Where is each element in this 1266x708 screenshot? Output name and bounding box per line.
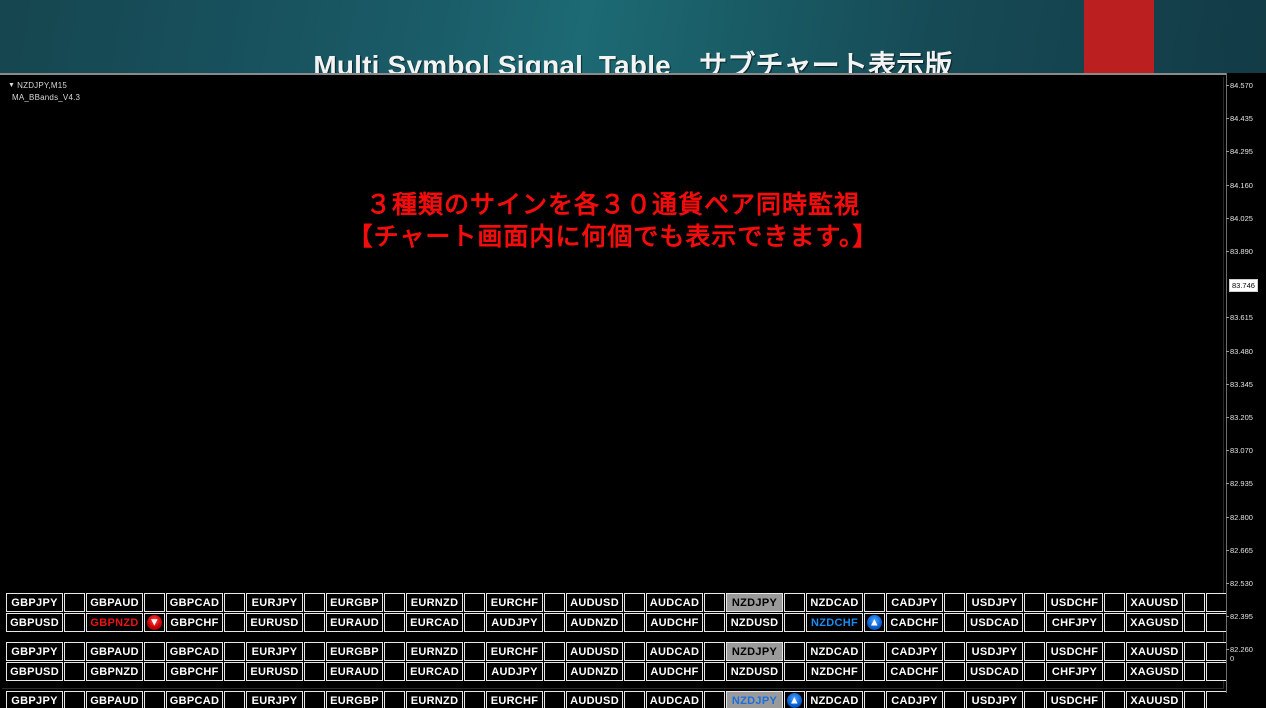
signal-table-1: GBPJPYGBPAUDGBPCADEURJPYEURGBPEURNZDEURC…	[6, 593, 1228, 633]
signal-cell-empty	[944, 662, 965, 681]
price-tick-label: 82.935	[1230, 479, 1253, 488]
signal-table-3: GBPJPYGBPAUDGBPCADEURJPYEURGBPEURNZDEURC…	[6, 691, 1228, 708]
symbol-cell-audnzd[interactable]: AUDNZD	[566, 613, 623, 632]
symbol-cell-cadjpy[interactable]: CADJPY	[886, 593, 943, 612]
symbol-cell-usdjpy[interactable]: USDJPY	[966, 691, 1023, 708]
signal-cell-empty	[864, 642, 885, 661]
symbol-cell-gbpusd[interactable]: GBPUSD	[6, 613, 63, 632]
symbol-cell-gbpcad[interactable]: GBPCAD	[166, 642, 223, 661]
signal-cell-empty	[464, 593, 485, 612]
signal-cell-empty	[784, 613, 805, 632]
signal-cell-empty	[384, 662, 405, 681]
symbol-cell-euraud[interactable]: EURAUD	[326, 613, 383, 632]
signal-cell-empty	[144, 662, 165, 681]
signal-cell-empty	[624, 662, 645, 681]
symbol-cell-nzdcad[interactable]: NZDCAD	[806, 691, 863, 708]
symbol-cell-audjpy[interactable]: AUDJPY	[486, 613, 543, 632]
signal-cell-empty	[224, 613, 245, 632]
signal-cell-empty	[1206, 642, 1227, 661]
signal-cell-empty	[1024, 642, 1045, 661]
symbol-cell-nzdcad[interactable]: NZDCAD	[806, 642, 863, 661]
symbol-cell-nzdchf[interactable]: NZDCHF	[806, 662, 863, 681]
price-tick-label: 83.480	[1230, 347, 1253, 356]
symbol-cell-eurusd[interactable]: EURUSD	[246, 662, 303, 681]
symbol-cell-eurnzd[interactable]: EURNZD	[406, 642, 463, 661]
signal-cell-empty	[1184, 642, 1205, 661]
symbol-cell-nzdjpy[interactable]: NZDJPY	[726, 593, 783, 612]
signal-cell-empty	[224, 642, 245, 661]
arrow-up-circle-icon: ▲	[867, 615, 882, 630]
price-tick-label: 83.070	[1230, 446, 1253, 455]
symbol-cell-gbpaud[interactable]: GBPAUD	[86, 642, 143, 661]
current-price-label: 83.746	[1229, 279, 1258, 292]
signal-cell-empty	[624, 691, 645, 708]
signal-cell-empty	[1024, 691, 1045, 708]
symbol-cell-gbpnzd[interactable]: GBPNZD	[86, 613, 143, 632]
symbol-cell-nzdchf[interactable]: NZDCHF	[806, 613, 863, 632]
collapse-triangle-icon[interactable]: ▼	[8, 82, 15, 89]
symbol-cell-eurnzd[interactable]: EURNZD	[406, 691, 463, 708]
signal-cell-empty	[464, 642, 485, 661]
arrow-down-circle-icon: ▼	[147, 615, 162, 630]
symbol-cell-cadchf[interactable]: CADCHF	[886, 613, 943, 632]
symbol-cell-xauusd[interactable]: XAUUSD	[1126, 642, 1183, 661]
symbol-cell-gbpnzd[interactable]: GBPNZD	[86, 662, 143, 681]
signal-cell-empty	[464, 662, 485, 681]
signal-cell-empty	[384, 613, 405, 632]
symbol-cell-audcad[interactable]: AUDCAD	[646, 642, 703, 661]
buy-signal-icon: ▲	[784, 691, 805, 708]
signal-cell-empty	[304, 642, 325, 661]
signal-cell-empty	[224, 593, 245, 612]
symbol-cell-gbpchf[interactable]: GBPCHF	[166, 613, 223, 632]
signal-cell-empty	[384, 593, 405, 612]
signal-cell-empty	[544, 593, 565, 612]
symbol-cell-gbpjpy[interactable]: GBPJPY	[6, 593, 63, 612]
signal-cell-empty	[784, 642, 805, 661]
table-row: GBPUSDGBPNZDGBPCHFEURUSDEURAUDEURCADAUDJ…	[6, 662, 1228, 682]
signal-cell-empty	[304, 613, 325, 632]
header-banner: Multi Symbol Signal_Table サブチャート表示版	[0, 0, 1266, 76]
signal-cell-empty	[1024, 593, 1045, 612]
symbol-cell-gbpjpy[interactable]: GBPJPY	[6, 642, 63, 661]
price-tick-label: 84.435	[1230, 114, 1253, 123]
signal-cell-empty	[704, 642, 725, 661]
symbol-cell-nzdjpy[interactable]: NZDJPY	[726, 642, 783, 661]
signal-cell-empty	[944, 691, 965, 708]
price-tick-label: 83.345	[1230, 380, 1253, 389]
promo-line-1: ３種類のサインを各３０通貨ペア同時監視	[2, 189, 1224, 221]
price-tick-label: 82.800	[1230, 513, 1253, 522]
symbol-cell-audusd[interactable]: AUDUSD	[566, 642, 623, 661]
symbol-cell-eurnzd[interactable]: EURNZD	[406, 593, 463, 612]
symbol-cell-gbpcad[interactable]: GBPCAD	[166, 593, 223, 612]
signal-cell-empty	[1184, 613, 1205, 632]
signal-cell-empty	[1184, 593, 1205, 612]
symbol-cell-audcad[interactable]: AUDCAD	[646, 691, 703, 708]
symbol-cell-gbpaud[interactable]: GBPAUD	[86, 593, 143, 612]
signal-cell-empty	[1206, 593, 1227, 612]
signal-cell-empty	[304, 593, 325, 612]
symbol-cell-chfjpy[interactable]: CHFJPY	[1046, 662, 1103, 681]
price-tick-label: 82.530	[1230, 579, 1253, 588]
symbol-cell-gbpaud[interactable]: GBPAUD	[86, 691, 143, 708]
signal-cell-empty	[64, 662, 85, 681]
symbol-cell-eurchf[interactable]: EURCHF	[486, 691, 543, 708]
symbol-cell-usdchf[interactable]: USDCHF	[1046, 691, 1103, 708]
signal-cell-empty	[64, 642, 85, 661]
symbol-cell-xagusd[interactable]: XAGUSD	[1126, 662, 1183, 681]
chart-canvas[interactable]: ▼NZDJPY,M15 MA_BBands_V4.3 ３種類のサインを各３０通貨…	[2, 77, 1224, 689]
signal-cell-empty	[1184, 662, 1205, 681]
signal-cell-empty	[1184, 691, 1205, 708]
symbol-cell-nzdusd[interactable]: NZDUSD	[726, 613, 783, 632]
signal-cell-empty	[384, 642, 405, 661]
signal-cell-empty	[384, 691, 405, 708]
signal-cell-empty	[944, 593, 965, 612]
symbol-cell-xauusd[interactable]: XAUUSD	[1126, 691, 1183, 708]
signal-cell-empty	[1104, 662, 1125, 681]
signal-cell-empty	[64, 593, 85, 612]
symbol-cell-usdcad[interactable]: USDCAD	[966, 662, 1023, 681]
signal-cell-empty	[1206, 691, 1227, 708]
signal-cell-empty	[1206, 613, 1227, 632]
signal-cell-empty	[784, 593, 805, 612]
signal-cell-empty	[784, 662, 805, 681]
signal-cell-empty	[304, 662, 325, 681]
signal-cell-empty	[944, 642, 965, 661]
signal-cell-empty	[624, 613, 645, 632]
signal-cell-empty	[224, 662, 245, 681]
symbol-cell-eurchf[interactable]: EURCHF	[486, 642, 543, 661]
price-tick-label: 82.665	[1230, 546, 1253, 555]
table-row: GBPJPYGBPAUDGBPCADEURJPYEURGBPEURNZDEURC…	[6, 593, 1228, 613]
signal-cell-empty	[864, 662, 885, 681]
signal-cell-empty	[1104, 613, 1125, 632]
signal-cell-empty	[544, 642, 565, 661]
symbol-cell-audjpy[interactable]: AUDJPY	[486, 662, 543, 681]
symbol-cell-usdjpy[interactable]: USDJPY	[966, 593, 1023, 612]
signal-cell-empty	[864, 593, 885, 612]
buy-signal-icon: ▲	[864, 613, 885, 632]
symbol-cell-nzdusd[interactable]: NZDUSD	[726, 662, 783, 681]
symbol-cell-eurcad[interactable]: EURCAD	[406, 613, 463, 632]
signal-cell-empty	[624, 593, 645, 612]
sell-signal-icon: ▼	[144, 613, 165, 632]
symbol-cell-gbpchf[interactable]: GBPCHF	[166, 662, 223, 681]
promo-text-block: ３種類のサインを各３０通貨ペア同時監視 【チャート画面内に何個でも表示できます。…	[2, 189, 1224, 253]
signal-cell-empty	[304, 691, 325, 708]
signal-cell-empty	[464, 691, 485, 708]
arrow-up-circle-icon: ▲	[787, 693, 802, 708]
signal-cell-empty	[704, 613, 725, 632]
symbol-cell-xagusd[interactable]: XAGUSD	[1126, 613, 1183, 632]
signal-cell-empty	[144, 642, 165, 661]
symbol-cell-gbpcad[interactable]: GBPCAD	[166, 691, 223, 708]
chart-symbol-text: NZDJPY,M15	[17, 81, 67, 90]
chart-window: ▼NZDJPY,M15 MA_BBands_V4.3 ３種類のサインを各３０通貨…	[0, 73, 1266, 708]
signal-cell-empty	[1206, 662, 1227, 681]
price-tick-label: 83.205	[1230, 413, 1253, 422]
price-tick-label: 83.615	[1230, 313, 1253, 322]
signal-cell-empty	[704, 691, 725, 708]
symbol-cell-eurjpy[interactable]: EURJPY	[246, 642, 303, 661]
page-title: Multi Symbol Signal_Table サブチャート表示版	[0, 44, 1266, 76]
signal-cell-empty	[1104, 642, 1125, 661]
symbol-cell-usdcad[interactable]: USDCAD	[966, 613, 1023, 632]
symbol-cell-chfjpy[interactable]: CHFJPY	[1046, 613, 1103, 632]
price-tick-label: 83.890	[1230, 247, 1253, 256]
signal-cell-empty	[544, 662, 565, 681]
signal-cell-empty	[864, 691, 885, 708]
symbol-cell-eurgbp[interactable]: EURGBP	[326, 642, 383, 661]
signal-cell-empty	[944, 613, 965, 632]
symbol-cell-xauusd[interactable]: XAUUSD	[1126, 593, 1183, 612]
symbol-cell-eurjpy[interactable]: EURJPY	[246, 593, 303, 612]
symbol-cell-euraud[interactable]: EURAUD	[326, 662, 383, 681]
price-axis[interactable]: 84.57084.43584.29584.16084.02583.89083.7…	[1226, 73, 1266, 708]
symbol-cell-cadjpy[interactable]: CADJPY	[886, 642, 943, 661]
symbol-cell-eurjpy[interactable]: EURJPY	[246, 691, 303, 708]
signal-cell-empty	[144, 593, 165, 612]
symbol-cell-audchf[interactable]: AUDCHF	[646, 613, 703, 632]
symbol-cell-eurusd[interactable]: EURUSD	[246, 613, 303, 632]
symbol-cell-audusd[interactable]: AUDUSD	[566, 593, 623, 612]
symbol-cell-gbpjpy[interactable]: GBPJPY	[6, 691, 63, 708]
price-tick-label: 84.295	[1230, 147, 1253, 156]
table-row: GBPUSDGBPNZD▼GBPCHFEURUSDEURAUDEURCADAUD…	[6, 613, 1228, 633]
chart-symbol-label: ▼NZDJPY,M15	[8, 81, 67, 90]
price-tick-label: 84.570	[1230, 81, 1253, 90]
signal-cell-empty	[64, 613, 85, 632]
symbol-cell-usdjpy[interactable]: USDJPY	[966, 642, 1023, 661]
signal-tables: GBPJPYGBPAUDGBPCADEURJPYEURGBPEURNZDEURC…	[6, 593, 1228, 708]
symbol-cell-audchf[interactable]: AUDCHF	[646, 662, 703, 681]
symbol-cell-usdchf[interactable]: USDCHF	[1046, 642, 1103, 661]
price-axis-zero-label: 0	[1230, 654, 1234, 663]
signal-cell-empty	[1024, 613, 1045, 632]
signal-cell-empty	[64, 691, 85, 708]
signal-cell-empty	[224, 691, 245, 708]
signal-cell-empty	[1024, 662, 1045, 681]
price-tick-label: 84.160	[1230, 181, 1253, 190]
signal-cell-empty	[144, 691, 165, 708]
signal-cell-empty	[704, 662, 725, 681]
symbol-cell-eurcad[interactable]: EURCAD	[406, 662, 463, 681]
promo-line-2: 【チャート画面内に何個でも表示できます。】	[2, 221, 1224, 253]
table-row: GBPJPYGBPAUDGBPCADEURJPYEURGBPEURNZDEURC…	[6, 691, 1228, 708]
signal-cell-empty	[1104, 593, 1125, 612]
symbol-cell-eurchf[interactable]: EURCHF	[486, 593, 543, 612]
symbol-cell-gbpusd[interactable]: GBPUSD	[6, 662, 63, 681]
app-root: Multi Symbol Signal_Table サブチャート表示版 ▼NZD…	[0, 0, 1266, 708]
symbol-cell-cadchf[interactable]: CADCHF	[886, 662, 943, 681]
symbol-cell-audnzd[interactable]: AUDNZD	[566, 662, 623, 681]
symbol-cell-eurgbp[interactable]: EURGBP	[326, 691, 383, 708]
symbol-cell-eurgbp[interactable]: EURGBP	[326, 593, 383, 612]
symbol-cell-nzdjpy[interactable]: NZDJPY	[726, 691, 783, 708]
signal-cell-empty	[544, 613, 565, 632]
symbol-cell-cadjpy[interactable]: CADJPY	[886, 691, 943, 708]
signal-cell-empty	[464, 613, 485, 632]
chart-indicator-label: MA_BBands_V4.3	[12, 93, 80, 102]
price-tick-label: 82.395	[1230, 612, 1253, 621]
signal-cell-empty	[624, 642, 645, 661]
signal-cell-empty	[544, 691, 565, 708]
table-row: GBPJPYGBPAUDGBPCADEURJPYEURGBPEURNZDEURC…	[6, 642, 1228, 662]
signal-table-2: GBPJPYGBPAUDGBPCADEURJPYEURGBPEURNZDEURC…	[6, 642, 1228, 682]
price-tick-label: 84.025	[1230, 214, 1253, 223]
symbol-cell-usdchf[interactable]: USDCHF	[1046, 593, 1103, 612]
symbol-cell-audcad[interactable]: AUDCAD	[646, 593, 703, 612]
signal-cell-empty	[1104, 691, 1125, 708]
symbol-cell-nzdcad[interactable]: NZDCAD	[806, 593, 863, 612]
signal-cell-empty	[704, 593, 725, 612]
symbol-cell-audusd[interactable]: AUDUSD	[566, 691, 623, 708]
